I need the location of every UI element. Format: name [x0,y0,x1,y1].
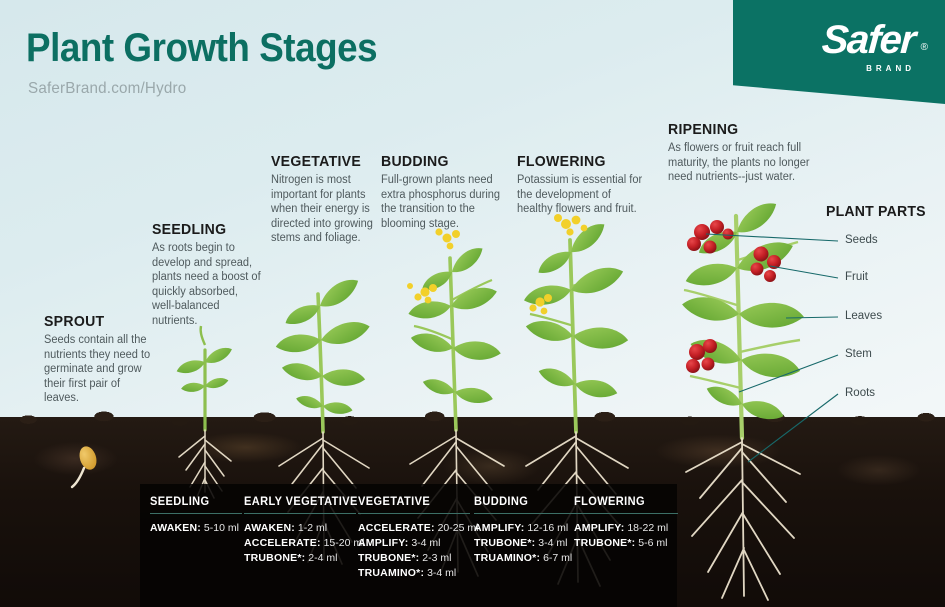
page-title: Plant Growth Stages [26,26,377,71]
dose-row: AWAKEN: 1-2 ml [244,521,356,536]
dose-product: TRUAMINO*: [358,567,424,579]
dose-column-seedling-rule [150,513,242,514]
stage-vegetative-title: VEGETATIVE [271,153,374,170]
dose-row: TRUBONE*: 3-4 ml [474,536,582,551]
dose-product: AWAKEN: [244,522,295,534]
dose-amount: 5-10 ml [204,522,239,534]
stage-vegetative-body: Nitrogen is most important for plants wh… [271,173,377,246]
fruit-cluster-top [687,220,734,254]
flower-cluster-flowering [529,214,587,314]
dose-column-seedling: SEEDLING AWAKEN: 5-10 ml [150,496,242,536]
dose-product: TRUBONE*: [474,537,535,549]
dose-product: ACCELERATE: [358,522,435,534]
dose-product: TRUAMINO*: [474,552,540,564]
dose-amount: 3-4 ml [411,537,440,549]
stage-flowering: FLOWERING Potassium is essential for the… [517,153,652,217]
stage-ripening: RIPENING As flowers or fruit reach full … [668,121,828,185]
dose-amount: 6-7 ml [543,552,572,564]
dose-column-flowering-header: FLOWERING [574,496,674,513]
flower-cluster-budding [407,228,460,303]
dose-amount: 3-4 ml [427,567,456,579]
registered-trademark-icon: ® [921,42,928,53]
stage-seedling: SEEDLING As roots begin to develop and s… [152,221,268,328]
fruit-cluster-right [751,247,782,283]
dose-row: TRUAMINO*: 6-7 ml [474,551,582,566]
dose-amount: 20-25 ml [438,522,479,534]
plant-part-label-stem: Stem [845,348,872,360]
plant-part-label-leaves: Leaves [845,310,882,322]
dose-column-budding: BUDDING AMPLIFY: 12-16 ml TRUBONE*: 3-4 … [474,496,582,566]
dose-amount: 12-16 ml [527,522,568,534]
nutrient-dosage-table: SEEDLING AWAKEN: 5-10 ml EARLY VEGETATIV… [140,484,677,607]
dose-column-flowering-rule [574,513,678,514]
stage-sprout-title: SPROUT [44,313,149,330]
dose-column-early-vegetative-rule [244,513,356,514]
dose-product: TRUBONE*: [358,552,419,564]
leader-line-stem [739,355,838,392]
stage-seedling-title: SEEDLING [152,221,261,238]
dose-column-flowering: FLOWERING AMPLIFY: 18-22 ml TRUBONE*: 5-… [574,496,678,551]
dose-column-early-vegetative: EARLY VEGETATIVE AWAKEN: 1-2 ml ACCELERA… [244,496,356,566]
dose-row: TRUBONE*: 5-6 ml [574,536,678,551]
dose-product: ACCELERATE: [244,537,321,549]
logo-brand-text: BRAND [866,64,915,73]
dose-column-budding-header: BUDDING [474,496,578,513]
stage-flowering-title: FLOWERING [517,153,644,170]
dose-product: TRUBONE*: [574,537,635,549]
soil-surface-texture [0,410,945,426]
dose-column-vegetative: VEGETATIVE ACCELERATE: 20-25 ml AMPLIFY:… [358,496,470,581]
stage-ripening-title: RIPENING [668,121,818,138]
plant-part-label-roots: Roots [845,387,875,399]
dose-row: AWAKEN: 5-10 ml [150,521,242,536]
dose-column-budding-rule [474,513,582,514]
leader-line-fruit [770,266,838,278]
dose-column-seedling-header: SEEDLING [150,496,238,513]
stage-ripening-body: As flowers or fruit reach full maturity,… [668,141,822,185]
dose-amount: 3-4 ml [538,537,567,549]
dose-column-early-vegetative-header: EARLY VEGETATIVE [244,496,352,513]
stage-vegetative: VEGETATIVE Nitrogen is most important fo… [271,153,381,246]
plant-part-label-fruit: Fruit [845,271,868,283]
stage-budding-title: BUDDING [381,153,499,170]
dose-product: AMPLIFY: [574,522,624,534]
dose-amount: 18-22 ml [627,522,668,534]
dose-row: AMPLIFY: 12-16 ml [474,521,582,536]
dose-product: AMPLIFY: [358,537,408,549]
stage-flowering-body: Potassium is essential for the developme… [517,173,647,217]
page-subtitle: SaferBrand.com/Hydro [28,80,186,98]
dose-amount: 2-3 ml [422,552,451,564]
plant-part-label-seeds: Seeds [845,234,878,246]
dose-product: TRUBONE*: [244,552,305,564]
stage-seedling-body: As roots begin to develop and spread, pl… [152,241,263,328]
infographic-canvas: Plant Growth Stages SaferBrand.com/Hydro… [0,0,945,607]
dose-amount: 5-6 ml [638,537,667,549]
logo-wordmark: Safer [821,18,917,63]
leader-line-seeds [706,234,838,241]
dose-row: TRUAMINO*: 3-4 ml [358,566,470,581]
dose-amount: 1-2 ml [298,522,327,534]
dose-row: ACCELERATE: 15-20 ml [244,536,356,551]
dose-amount: 2-4 ml [308,552,337,564]
stage-sprout-body: Seeds contain all the nutrients they nee… [44,333,152,406]
dose-row: AMPLIFY: 3-4 ml [358,536,470,551]
dose-row: ACCELERATE: 20-25 ml [358,521,470,536]
dose-row: TRUBONE*: 2-3 ml [358,551,470,566]
dose-column-vegetative-rule [358,513,470,514]
stage-budding-body: Full-grown plants need extra phosphorus … [381,173,501,231]
dose-column-vegetative-header: VEGETATIVE [358,496,466,513]
dose-product: AMPLIFY: [474,522,524,534]
plant-parts-title: PLANT PARTS [826,203,926,220]
dose-row: TRUBONE*: 2-4 ml [244,551,356,566]
leader-line-leaves [786,317,838,318]
dose-row: AMPLIFY: 18-22 ml [574,521,678,536]
dose-product: AWAKEN: [150,522,201,534]
fruit-cluster-left [686,339,717,373]
stage-budding: BUDDING Full-grown plants need extra pho… [381,153,506,231]
stage-sprout: SPROUT Seeds contain all the nutrients t… [44,313,156,406]
